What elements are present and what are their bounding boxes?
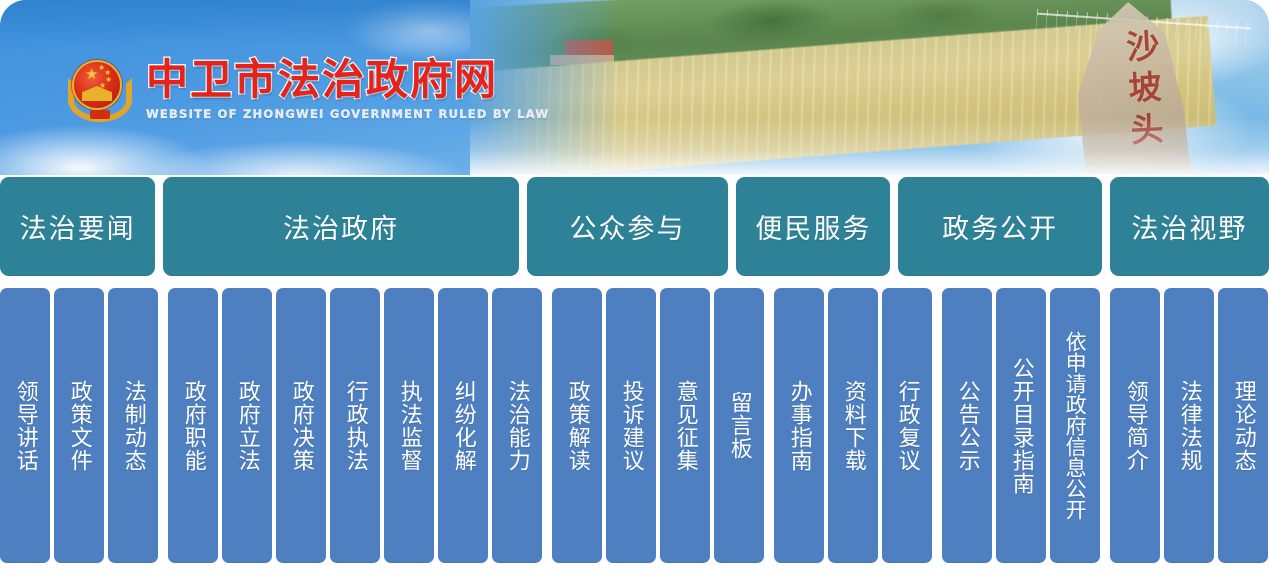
sub-nav-item-label: 办事指南 xyxy=(786,380,812,472)
nav-item-5[interactable]: 政务公开 xyxy=(898,177,1101,276)
sub-nav-item-label: 政策解读 xyxy=(564,380,590,472)
sub-nav-item-label: 行政复议 xyxy=(894,380,920,472)
sub-nav-group-3: 政策解读投诉建议意见征集留言板 xyxy=(552,288,764,563)
sub-nav-item-5-3[interactable]: 依申请政府信息公开 xyxy=(1050,288,1100,563)
nav-item-3[interactable]: 公众参与 xyxy=(527,177,728,276)
nav-item-2[interactable]: 法治政府 xyxy=(163,177,519,276)
brand-text: 中卫市法治政府网 WEBSITE OF ZHONGWEI GOVERNMENT … xyxy=(146,59,549,121)
sub-nav-item-2-5[interactable]: 执法监督 xyxy=(384,288,434,563)
sub-nav-item-1-1[interactable]: 领导讲话 xyxy=(0,288,50,563)
sub-nav-item-6-2[interactable]: 法律法规 xyxy=(1164,288,1214,563)
sub-nav-group-4: 办事指南资料下载行政复议 xyxy=(774,288,932,563)
nav-item-label: 法治政府 xyxy=(283,207,399,246)
nav-item-4[interactable]: 便民服务 xyxy=(736,177,890,276)
nav-item-label: 法治视野 xyxy=(1131,207,1247,246)
sub-nav-item-label: 领导简介 xyxy=(1122,380,1148,472)
site-brand[interactable]: ★ ★ ★ ★ ★ 中卫市法治政府网 WEBSITE OF ZHONGWEI G… xyxy=(68,58,549,122)
sub-nav-item-2-7[interactable]: 法治能力 xyxy=(492,288,542,563)
sub-nav-item-2-4[interactable]: 行政执法 xyxy=(330,288,380,563)
sub-nav-item-2-1[interactable]: 政府职能 xyxy=(168,288,218,563)
sub-nav-item-label: 法律法规 xyxy=(1176,380,1202,472)
page-root: 沙坡头 ★ ★ ★ ★ ★ 中卫市法治政府网 WEBSITE OF ZHONGW… xyxy=(0,0,1269,575)
site-subtitle: WEBSITE OF ZHONGWEI GOVERNMENT RULED BY … xyxy=(146,107,549,121)
emblem-ribbon xyxy=(90,110,110,119)
emblem-star-small: ★ xyxy=(99,82,106,90)
sub-nav-item-label: 法治能力 xyxy=(504,380,530,472)
sub-nav-item-label: 投诉建议 xyxy=(618,380,644,472)
banner-photo: 沙坡头 xyxy=(470,0,1269,175)
sub-nav-item-label: 留言板 xyxy=(726,391,752,460)
sub-nav-item-2-6[interactable]: 纠纷化解 xyxy=(438,288,488,563)
sub-nav-item-label: 政府职能 xyxy=(180,380,206,472)
sub-nav-item-3-3[interactable]: 意见征集 xyxy=(660,288,710,563)
national-emblem-icon: ★ ★ ★ ★ ★ xyxy=(68,58,132,122)
sub-nav-item-5-2[interactable]: 公开目录指南 xyxy=(996,288,1046,563)
sub-navigation: 领导讲话政策文件法制动态政府职能政府立法政府决策行政执法执法监督纠纷化解法治能力… xyxy=(0,288,1269,563)
sub-nav-group-2: 政府职能政府立法政府决策行政执法执法监督纠纷化解法治能力 xyxy=(168,288,542,563)
sub-nav-item-6-3[interactable]: 理论动态 xyxy=(1218,288,1268,563)
sub-nav-item-label: 执法监督 xyxy=(396,380,422,472)
sub-nav-item-4-3[interactable]: 行政复议 xyxy=(882,288,932,563)
nav-item-1[interactable]: 法治要闻 xyxy=(0,177,155,276)
sub-nav-group-6: 领导简介法律法规理论动态典型案例 xyxy=(1110,288,1269,563)
sub-nav-item-label: 政府决策 xyxy=(288,380,314,472)
sub-nav-item-label: 政府立法 xyxy=(234,380,260,472)
emblem-star-large: ★ xyxy=(85,67,98,82)
sub-nav-item-label: 纠纷化解 xyxy=(450,380,476,472)
sub-nav-item-label: 领导讲话 xyxy=(12,380,38,472)
photo-bottom-fade xyxy=(470,117,1269,175)
sub-nav-item-label: 理论动态 xyxy=(1230,380,1256,472)
main-navigation: 法治要闻法治政府公众参与便民服务政务公开法治视野 xyxy=(0,177,1269,276)
nav-item-label: 法治要闻 xyxy=(20,207,136,246)
sub-nav-item-1-2[interactable]: 政策文件 xyxy=(54,288,104,563)
sub-nav-item-3-1[interactable]: 政策解读 xyxy=(552,288,602,563)
sub-nav-item-3-2[interactable]: 投诉建议 xyxy=(606,288,656,563)
sub-nav-item-5-1[interactable]: 公告公示 xyxy=(942,288,992,563)
sub-nav-item-label: 公开目录指南 xyxy=(1008,357,1034,495)
sub-nav-item-label: 政策文件 xyxy=(66,380,92,472)
sub-nav-item-6-1[interactable]: 领导简介 xyxy=(1110,288,1160,563)
nav-item-label: 便民服务 xyxy=(755,207,871,246)
sub-nav-item-4-2[interactable]: 资料下载 xyxy=(828,288,878,563)
sub-nav-item-label: 公告公示 xyxy=(954,380,980,472)
nav-item-6[interactable]: 法治视野 xyxy=(1110,177,1269,276)
sub-nav-item-label: 法制动态 xyxy=(120,380,146,472)
sub-nav-item-label: 资料下载 xyxy=(840,380,866,472)
nav-item-label: 公众参与 xyxy=(570,207,686,246)
sub-nav-item-label: 意见征集 xyxy=(672,380,698,472)
sub-nav-item-2-2[interactable]: 政府立法 xyxy=(222,288,272,563)
sub-nav-group-1: 领导讲话政策文件法制动态 xyxy=(0,288,158,563)
sub-nav-item-label: 依申请政府信息公开 xyxy=(1063,331,1087,520)
sub-nav-item-4-1[interactable]: 办事指南 xyxy=(774,288,824,563)
sub-nav-item-label: 行政执法 xyxy=(342,380,368,472)
sub-nav-group-5: 公告公示公开目录指南依申请政府信息公开 xyxy=(942,288,1100,563)
sub-nav-item-1-3[interactable]: 法制动态 xyxy=(108,288,158,563)
sub-nav-item-3-4[interactable]: 留言板 xyxy=(714,288,764,563)
nav-item-label: 政务公开 xyxy=(942,207,1058,246)
site-title: 中卫市法治政府网 xyxy=(146,59,549,102)
site-header: 沙坡头 ★ ★ ★ ★ ★ 中卫市法治政府网 WEBSITE OF ZHONGW… xyxy=(0,0,1269,175)
sub-nav-item-2-3[interactable]: 政府决策 xyxy=(276,288,326,563)
